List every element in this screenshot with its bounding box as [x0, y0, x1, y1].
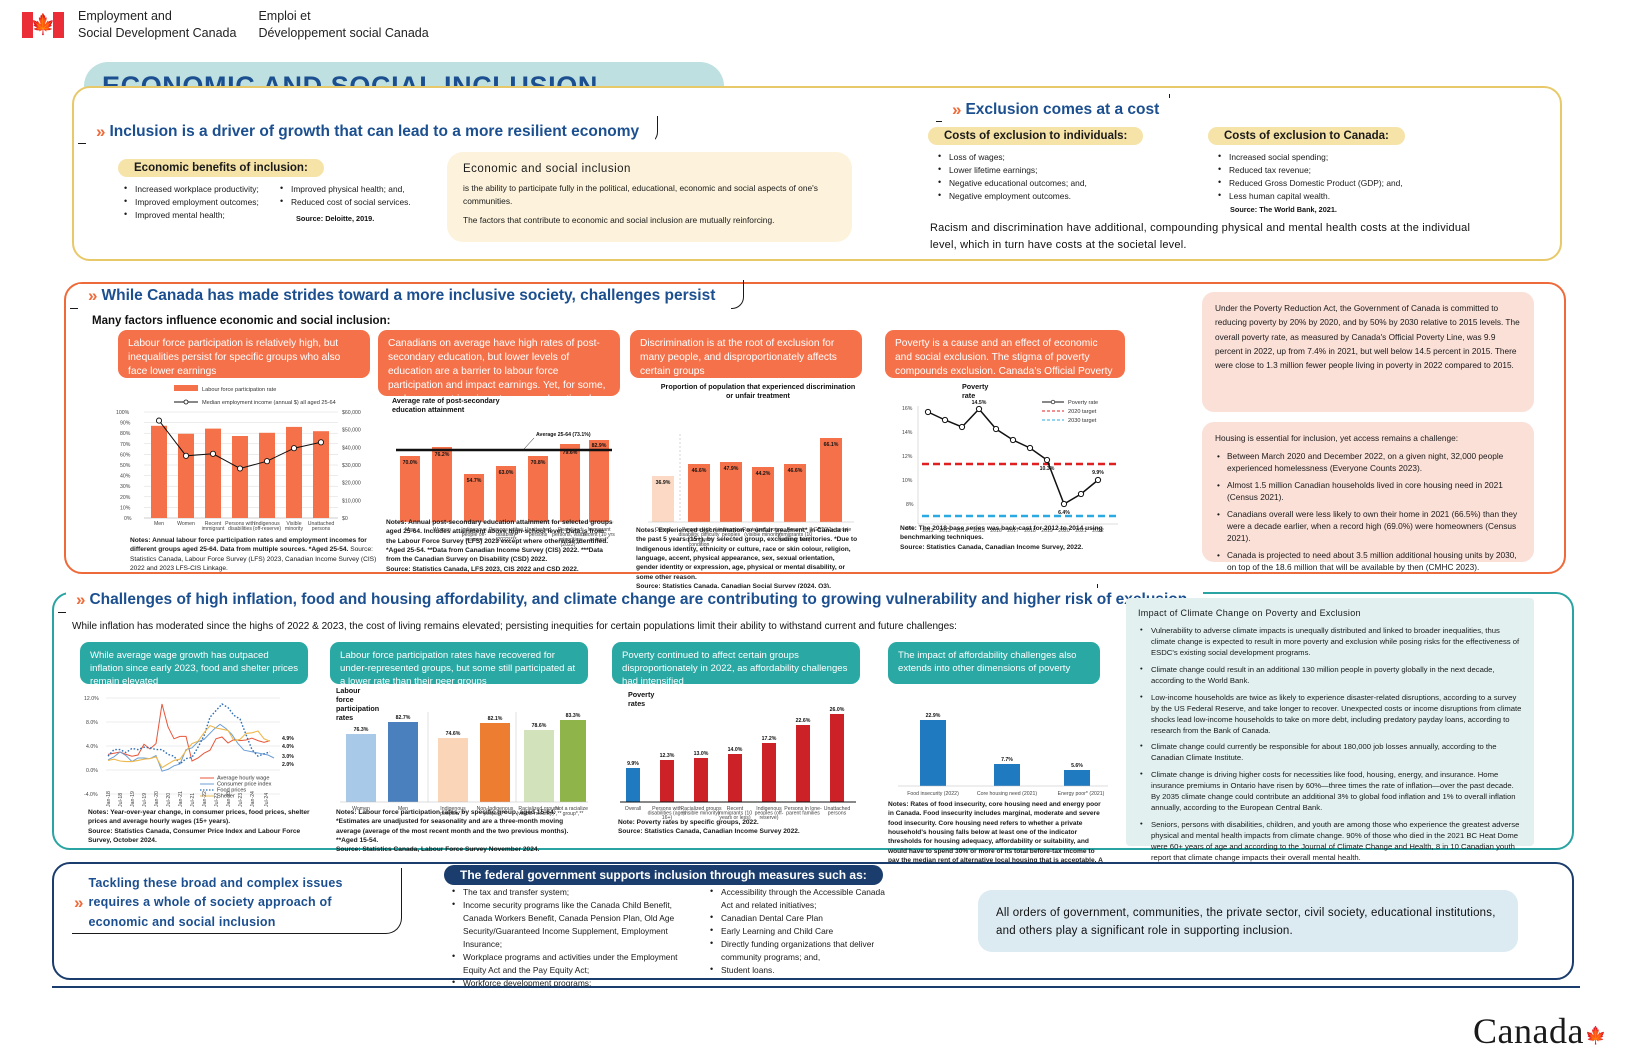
- list-item: Improved mental health;: [124, 209, 279, 222]
- svg-text:76.2%: 76.2%: [435, 452, 450, 458]
- poverty-reduction-act-box: Under the Poverty Reduction Act, the Gov…: [1202, 292, 1534, 412]
- svg-text:$50,000: $50,000: [342, 428, 361, 434]
- list-item: Lower lifetime earnings;: [938, 164, 1158, 177]
- chevron-right-icon: »: [76, 590, 82, 610]
- callout-affordability-dimensions: The impact of affordability challenges a…: [888, 642, 1100, 684]
- svg-text:70%: 70%: [120, 442, 131, 448]
- costs-individuals-list: Loss of wages; Lower lifetime earnings; …: [938, 151, 1158, 203]
- svg-text:Jan-21: Jan-21: [178, 791, 184, 807]
- svg-text:$30,000: $30,000: [342, 463, 361, 469]
- svg-text:7.7%: 7.7%: [1001, 757, 1013, 763]
- svg-text:9.9%: 9.9%: [627, 761, 639, 767]
- infographic-page: 🍁 Employment and Social Development Cana…: [0, 0, 1632, 1056]
- source-label: Source: Statistics Canada, Labour Force …: [336, 846, 539, 853]
- source-label: Source: Statistics Canada, Canadian Inco…: [618, 828, 800, 835]
- svg-text:6.4%: 6.4%: [1058, 510, 1070, 516]
- source-label: Source: Statistics Canada, LFS 2023, CIS…: [386, 566, 579, 573]
- department-name-en: Employment and Social Development Canada: [78, 8, 236, 41]
- svg-text:Average 25-64 (73.1%): Average 25-64 (73.1%): [536, 432, 591, 438]
- footer-rule: [52, 986, 1580, 988]
- section2-heading-text: While Canada has made strides toward a m…: [101, 287, 715, 305]
- chevron-right-icon: »: [952, 100, 958, 120]
- list-item: Seniors, persons with disabilities, chil…: [1138, 820, 1522, 864]
- svg-text:14.5%: 14.5%: [972, 400, 987, 406]
- chevron-right-icon: »: [88, 286, 94, 306]
- government-header: 🍁 Employment and Social Development Cana…: [22, 8, 429, 41]
- chart-discrimination-title: Proportion of population that experience…: [658, 382, 858, 400]
- svg-text:12%: 12%: [902, 454, 913, 460]
- svg-text:82.7%: 82.7%: [396, 715, 411, 721]
- section3-subheading: While inflation has moderated since the …: [72, 621, 1092, 632]
- svg-text:Jan-18: Jan-18: [106, 791, 112, 807]
- svg-text:14.0%: 14.0%: [728, 747, 743, 753]
- svg-text:10%: 10%: [902, 478, 913, 484]
- svg-text:disabilities: disabilities: [228, 526, 252, 532]
- section1-heading-text: Inclusion is a driver of growth that can…: [109, 123, 639, 141]
- svg-text:26.0%: 26.0%: [830, 707, 845, 713]
- section3-heading-text: Challenges of high inflation, food and h…: [89, 591, 1187, 609]
- section2-heading: » While Canada has made strides toward a…: [78, 284, 731, 310]
- svg-text:2020 target: 2020 target: [1068, 409, 1097, 415]
- list-item: Almost 1.5 million Canadian households l…: [1215, 479, 1521, 503]
- note-label: Notes: Year-over-year change, in consume…: [88, 809, 310, 825]
- climate-impact-title: Impact of Climate Change on Poverty and …: [1138, 608, 1522, 618]
- closing-statement-box: All orders of government, communities, t…: [978, 890, 1518, 952]
- climate-bullets: Vulnerability to adverse climate impacts…: [1138, 626, 1522, 864]
- exclusion-heading: » Exclusion comes at a cost: [942, 98, 1175, 124]
- svg-text:10.3%: 10.3%: [1040, 466, 1055, 472]
- svg-text:parent families: parent families: [786, 811, 820, 817]
- list-item: Early Learning and Child Care: [710, 925, 895, 938]
- list-item: Workplace programs and activities under …: [452, 951, 682, 977]
- svg-text:5.6%: 5.6%: [1071, 763, 1083, 769]
- note-label: Note: Poverty rates by specific groups, …: [618, 819, 759, 826]
- svg-text:40%: 40%: [120, 474, 131, 480]
- svg-text:100%: 100%: [116, 410, 130, 416]
- racism-statement: Racism and discrimination have additiona…: [930, 220, 1500, 254]
- note-chart-lfp-groups: Notes: Labour force participation rates,…: [336, 808, 580, 855]
- housing-bullets: Between March 2020 and December 2022, on…: [1215, 450, 1521, 573]
- svg-text:Jul-18: Jul-18: [118, 793, 124, 807]
- svg-text:0.0%: 0.0%: [86, 768, 98, 774]
- costs-individuals-label-wrap: Costs of exclusion to individuals:: [928, 126, 1143, 145]
- svg-text:46.6%: 46.6%: [692, 468, 707, 474]
- note-chart-lfp: Notes: Annual labour force participation…: [130, 536, 380, 573]
- list-item: Loss of wages;: [938, 151, 1158, 164]
- callout-poverty: Poverty is a cause and an effect of econ…: [885, 330, 1125, 378]
- note-chart-poverty-trend: Note: The 2018-base series was back-cast…: [900, 524, 1110, 552]
- definition-box: Economic and social inclusion is the abi…: [447, 152, 852, 242]
- callout-labour-participation: Labour force participation is relatively…: [118, 330, 370, 378]
- climate-impact-box: Impact of Climate Change on Poverty and …: [1126, 598, 1534, 846]
- svg-text:82.9%: 82.9%: [592, 443, 607, 449]
- chart-inflation-lines: 12.0%8.0% 4.0%0.0% -4.0% 4.9% 4.0% 3.0% …: [80, 688, 312, 813]
- svg-text:3.0%: 3.0%: [282, 754, 294, 760]
- svg-text:0%: 0%: [124, 516, 132, 522]
- svg-text:$40,000: $40,000: [342, 445, 361, 451]
- benefits-list-col1: Increased workplace productivity; Improv…: [124, 183, 279, 222]
- callout-discrimination: Discrimination is at the root of exclusi…: [630, 330, 862, 378]
- callout-poverty-groups: Poverty continued to affect certain grou…: [612, 642, 860, 684]
- svg-text:minority: minority: [285, 526, 304, 532]
- svg-text:74.6%: 74.6%: [446, 731, 461, 737]
- canada-flag-wordmark-icon: 🍁: [1585, 1026, 1602, 1045]
- svg-text:4.0%: 4.0%: [86, 744, 98, 750]
- svg-text:14%: 14%: [902, 430, 913, 436]
- svg-text:Jul-20: Jul-20: [166, 793, 172, 807]
- section1-heading: » Inclusion is a driver of growth that c…: [86, 120, 655, 146]
- svg-text:Food insecurity (2022): Food insecurity (2022): [907, 791, 959, 797]
- svg-text:Energy poor* (2021): Energy poor* (2021): [1058, 791, 1105, 797]
- svg-text:(visible minority): (visible minority): [682, 811, 720, 817]
- svg-text:20%: 20%: [120, 495, 131, 501]
- benefits-source: Source: Deloitte, 2019.: [296, 214, 374, 223]
- definition-title: Economic and social inclusion: [463, 163, 836, 175]
- list-item: Income security programs like the Canada…: [452, 899, 682, 951]
- list-item: Reduced tax revenue;: [1218, 164, 1478, 177]
- svg-text:Jul-22: Jul-22: [214, 793, 220, 807]
- note-chart-education: Notes: Annual post-secondary education a…: [386, 518, 614, 574]
- callout-education: Canadians on average have high rates of …: [378, 330, 620, 396]
- svg-text:8%: 8%: [906, 502, 914, 508]
- svg-text:12.0%: 12.0%: [84, 696, 99, 702]
- callout-wage-inflation: While average wage growth has outpaced i…: [80, 642, 308, 684]
- svg-text:4.0%: 4.0%: [282, 744, 294, 750]
- svg-text:66.1%: 66.1%: [824, 442, 839, 448]
- list-item: Workforce development programs;: [452, 977, 682, 990]
- svg-text:70.0%: 70.0%: [403, 460, 418, 466]
- tagline-text: Tackling these broad and complex issues …: [88, 874, 388, 932]
- svg-text:Jan-24: Jan-24: [250, 791, 256, 807]
- svg-text:9.9%: 9.9%: [1092, 470, 1104, 476]
- list-item: Vulnerability to adverse climate impacts…: [1138, 626, 1522, 659]
- list-item: Less human capital wealth.: [1218, 190, 1478, 203]
- svg-text:30%: 30%: [120, 484, 131, 490]
- list-item: Negative employment outcomes.: [938, 190, 1158, 203]
- svg-text:Overall: Overall: [625, 806, 641, 812]
- svg-text:Jan-19: Jan-19: [130, 791, 136, 807]
- svg-text:Poverty rate: Poverty rate: [1068, 400, 1098, 406]
- chevron-right-icon: »: [96, 122, 102, 142]
- svg-text:Labour force participation rat: Labour force participation rate: [202, 387, 276, 393]
- canada-wordmark-text: Canada: [1473, 1011, 1584, 1051]
- svg-text:immigrant: immigrant: [202, 526, 225, 532]
- department-name-fr: Emploi et Développement social Canada: [258, 8, 428, 41]
- svg-text:$60,000: $60,000: [342, 410, 361, 416]
- exclusion-heading-text: Exclusion comes at a cost: [965, 101, 1159, 119]
- list-item: Improved employment outcomes;: [124, 196, 279, 209]
- svg-text:36.9%: 36.9%: [656, 480, 671, 486]
- costs-canada-label-wrap: Costs of exclusion to Canada:: [1208, 126, 1405, 145]
- chart-lfp-income: Labour force participation rate Median e…: [110, 382, 372, 537]
- svg-text:12.3%: 12.3%: [660, 753, 675, 759]
- list-item: Negative educational outcomes; and,: [938, 177, 1158, 190]
- measures-label: The federal government supports inclusio…: [444, 865, 883, 885]
- list-item: Climate change could result in an additi…: [1138, 665, 1522, 687]
- note-label: Note: The 2018-base series was back-cast…: [900, 525, 1103, 541]
- svg-text:16%: 16%: [902, 406, 913, 412]
- note-label: Notes: Experienced discrimination or unf…: [636, 527, 857, 581]
- svg-text:78.6%: 78.6%: [532, 723, 547, 729]
- svg-text:22.9%: 22.9%: [926, 713, 941, 719]
- list-item: Between March 2020 and December 2022, on…: [1215, 450, 1521, 474]
- svg-text:Median employment income (ann: Median employment income (annual $) all …: [202, 400, 336, 406]
- section3-heading: » Challenges of high inflation, food and…: [66, 588, 1203, 614]
- svg-text:persons: persons: [828, 811, 847, 817]
- svg-text:Men: Men: [154, 521, 164, 527]
- svg-text:80%: 80%: [120, 431, 131, 437]
- list-item: Canada is projected to need about 3.5 mi…: [1215, 549, 1521, 573]
- measures-list-col1: The tax and transfer system; Income secu…: [452, 886, 682, 990]
- note-label: Notes: Annual labour force participation…: [130, 537, 367, 553]
- note-chart-inflation: Notes: Year-over-year change, in consume…: [88, 808, 316, 845]
- svg-text:Jan-23: Jan-23: [226, 791, 232, 807]
- tagline-block: » Tackling these broad and complex issue…: [74, 874, 388, 932]
- svg-text:Core housing need (2021): Core housing need (2021): [977, 791, 1038, 797]
- svg-text:46.6%: 46.6%: [788, 468, 803, 474]
- list-item: Canadian Dental Care Plan: [710, 912, 895, 925]
- costs-canada-list: Increased social spending; Reduced tax r…: [1218, 151, 1478, 203]
- list-item: Reduced Gross Domestic Product (GDP); an…: [1218, 177, 1478, 190]
- svg-text:Women: Women: [177, 521, 195, 527]
- list-item: Reduced cost of social services.: [280, 196, 440, 209]
- note-label: Notes: Annual post-secondary education a…: [386, 519, 613, 563]
- svg-text:90%: 90%: [120, 421, 131, 427]
- canada-wordmark: Canada🍁: [1473, 1010, 1602, 1052]
- svg-text:$20,000: $20,000: [342, 481, 361, 487]
- svg-text:22.6%: 22.6%: [796, 718, 811, 724]
- list-item: Canadians overall were less likely to ow…: [1215, 508, 1521, 544]
- svg-text:Jul-21: Jul-21: [190, 793, 196, 807]
- definition-paragraph-2: The factors that contribute to economic …: [463, 214, 836, 227]
- svg-text:(off-reserve): (off-reserve): [253, 526, 281, 532]
- svg-text:8.0%: 8.0%: [86, 720, 98, 726]
- svg-text:Jul-19: Jul-19: [142, 793, 148, 807]
- housing-box-title: Housing is essential for inclusion, yet …: [1215, 431, 1521, 445]
- svg-text:4.9%: 4.9%: [282, 736, 294, 742]
- costs-individuals-label: Costs of exclusion to individuals:: [928, 127, 1143, 145]
- costs-canada-source: Source: The World Bank, 2021.: [1230, 205, 1337, 214]
- source-label: Source: Statistics Canada, Canadian Inco…: [900, 544, 1083, 551]
- svg-text:47.9%: 47.9%: [724, 466, 739, 472]
- note-chart-discrimination: Notes: Experienced discrimination or unf…: [636, 526, 858, 592]
- list-item: Climate change could currently be respon…: [1138, 742, 1522, 764]
- callout-lfp-recovery: Labour force participation rates have re…: [330, 642, 588, 684]
- list-item: Increased social spending;: [1218, 151, 1478, 164]
- svg-text:50%: 50%: [120, 463, 131, 469]
- svg-text:63.0%: 63.0%: [499, 470, 514, 476]
- svg-text:2.0%: 2.0%: [282, 762, 294, 768]
- note-label: Notes: Labour force participation rates,…: [336, 809, 568, 844]
- svg-text:persons: persons: [312, 526, 331, 532]
- svg-text:17.2%: 17.2%: [762, 736, 777, 742]
- list-item: Improved physical health; and,: [280, 183, 440, 196]
- source-label: Source: Statistics Canada, Consumer Pric…: [88, 828, 300, 844]
- benefits-list-col2: Improved physical health; and, Reduced c…: [280, 183, 440, 209]
- svg-text:76.3%: 76.3%: [354, 727, 369, 733]
- svg-text:79.6%: 79.6%: [563, 450, 578, 456]
- measures-list-col2: Accessibility through the Accessible Can…: [710, 886, 895, 977]
- chevron-right-icon: »: [74, 893, 80, 913]
- economic-benefits-label-wrap: Economic benefits of inclusion:: [118, 158, 324, 177]
- svg-text:13.0%: 13.0%: [694, 751, 709, 757]
- svg-text:Jan-22: Jan-22: [202, 791, 208, 807]
- svg-text:10%: 10%: [120, 505, 131, 511]
- svg-text:82.1%: 82.1%: [488, 716, 503, 722]
- note-chart-poverty-groups: Note: Poverty rates by specific groups, …: [618, 818, 858, 837]
- measures-label-wrap: The federal government supports inclusio…: [444, 865, 883, 885]
- svg-text:44.2%: 44.2%: [756, 471, 771, 477]
- svg-text:Jan-20: Jan-20: [154, 791, 160, 807]
- svg-text:-4.0%: -4.0%: [84, 792, 98, 798]
- list-item: Increased workplace productivity;: [124, 183, 279, 196]
- svg-text:54.7%: 54.7%: [467, 478, 482, 484]
- costs-canada-label: Costs of exclusion to Canada:: [1208, 127, 1405, 145]
- list-item: The tax and transfer system;: [452, 886, 682, 899]
- chart-affordability-dimensions: 22.9%7.7%5.6% Food insecurity (2022) Cor…: [884, 700, 1112, 803]
- list-item: Directly funding organizations that deli…: [710, 938, 895, 964]
- svg-text:70.8%: 70.8%: [531, 460, 546, 466]
- housing-box: Housing is essential for inclusion, yet …: [1202, 422, 1534, 562]
- economic-benefits-label: Economic benefits of inclusion:: [118, 159, 324, 177]
- svg-text:Jul-23: Jul-23: [238, 793, 244, 807]
- svg-text:$10,000: $10,000: [342, 498, 361, 504]
- list-item: Low-income households are twice as likel…: [1138, 693, 1522, 737]
- svg-text:2030 target: 2030 target: [1068, 418, 1097, 424]
- svg-text:60%: 60%: [120, 452, 131, 458]
- svg-text:$0: $0: [342, 516, 348, 522]
- svg-text:83.3%: 83.3%: [566, 713, 581, 719]
- definition-paragraph-1: is the ability to participate fully in t…: [463, 182, 836, 207]
- svg-text:Jul-24: Jul-24: [264, 793, 270, 807]
- canada-flag-icon: 🍁: [22, 12, 64, 38]
- section2-subheading: Many factors influence economic and soci…: [92, 315, 390, 327]
- list-item: Student loans.: [710, 964, 895, 977]
- list-item: Accessibility through the Accessible Can…: [710, 886, 895, 912]
- list-item: Climate change is driving higher costs f…: [1138, 770, 1522, 814]
